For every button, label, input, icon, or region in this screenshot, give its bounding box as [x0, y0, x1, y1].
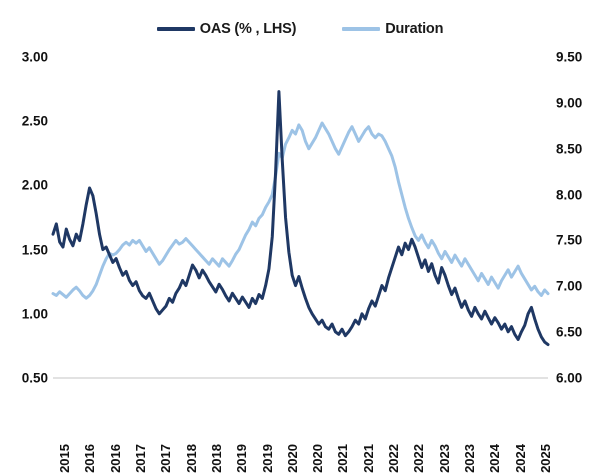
plot-area	[0, 0, 600, 450]
chart-container: OAS (% , LHS) Duration 0.501.001.502.002…	[0, 0, 600, 450]
